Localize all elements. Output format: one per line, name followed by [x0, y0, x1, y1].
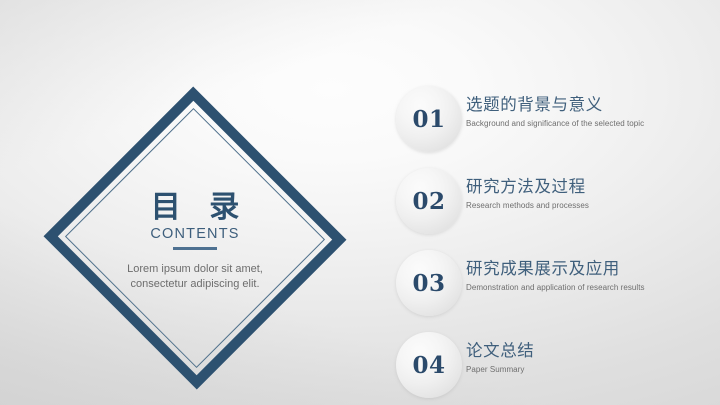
agenda-text-block: 研究方法及过程 Research methods and processes [466, 177, 706, 211]
agenda-subtitle: Background and significance of the selec… [466, 119, 706, 129]
agenda-text-block: 选题的背景与意义 Background and significance of … [466, 95, 706, 129]
agenda-item-03[interactable]: 03 研究成果展示及应用 Demonstration and applicati… [396, 250, 706, 316]
agenda-number-label: 01 [412, 108, 445, 131]
agenda-item-04[interactable]: 04 论文总结 Paper Summary [396, 332, 706, 398]
agenda-number-badge[interactable]: 01 [396, 86, 462, 152]
contents-title: 目 录 [142, 191, 248, 224]
agenda-number-badge[interactable]: 02 [396, 168, 462, 234]
contents-diamond: 目 录 CONTENTS Lorem ipsum dolor sit amet,… [42, 88, 348, 387]
agenda-subtitle: Paper Summary [466, 365, 706, 375]
agenda-number-badge[interactable]: 04 [396, 332, 462, 398]
agenda-list: 01 选题的背景与意义 Background and significance … [396, 86, 706, 398]
agenda-number-label: 03 [412, 272, 445, 295]
contents-subtitle: CONTENTS [150, 227, 239, 243]
agenda-number-label: 02 [412, 190, 445, 213]
contents-description: Lorem ipsum dolor sit amet, consectetur … [120, 262, 270, 292]
slide-canvas: 目 录 CONTENTS Lorem ipsum dolor sit amet,… [0, 0, 720, 405]
agenda-item-01[interactable]: 01 选题的背景与意义 Background and significance … [396, 86, 706, 152]
contents-text-block: 目 录 CONTENTS Lorem ipsum dolor sit amet,… [42, 88, 348, 387]
agenda-text-block: 研究成果展示及应用 Demonstration and application … [466, 259, 706, 293]
agenda-text-block: 论文总结 Paper Summary [466, 341, 706, 375]
agenda-number-label: 04 [412, 354, 445, 377]
agenda-title: 研究方法及过程 [466, 177, 706, 198]
agenda-title: 研究成果展示及应用 [466, 259, 706, 280]
agenda-number-badge[interactable]: 03 [396, 250, 462, 316]
agenda-subtitle: Research methods and processes [466, 201, 706, 211]
agenda-item-02[interactable]: 02 研究方法及过程 Research methods and processe… [396, 168, 706, 234]
agenda-title: 论文总结 [466, 341, 706, 362]
agenda-subtitle: Demonstration and application of researc… [466, 283, 706, 293]
contents-divider [173, 247, 217, 250]
agenda-title: 选题的背景与意义 [466, 95, 706, 116]
